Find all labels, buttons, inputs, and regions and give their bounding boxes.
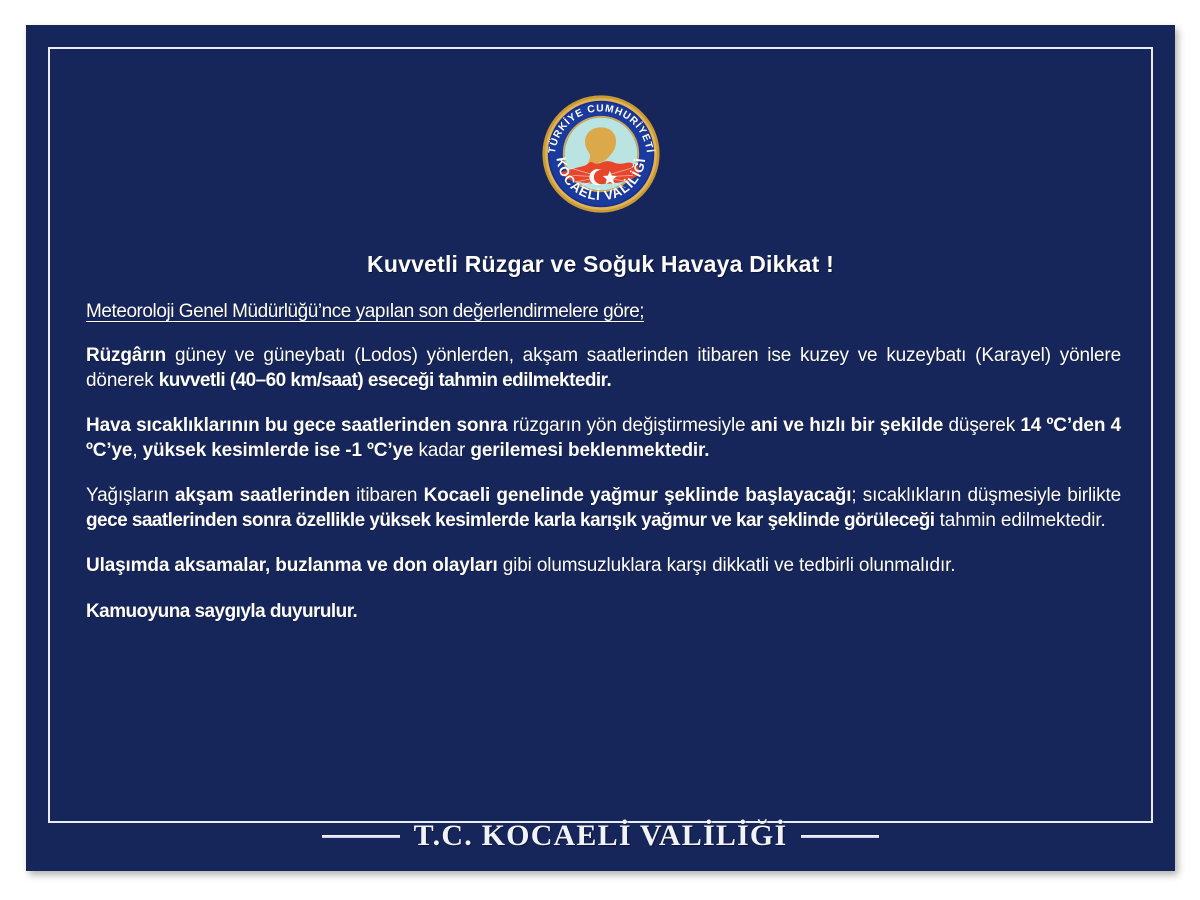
closing-bold: Kamuoyuna saygıyla duyurulur.	[86, 601, 357, 622]
precip-text-2: itibaren	[350, 485, 424, 506]
temp-text-4: kadar	[413, 440, 470, 461]
source-attribution-line: Meteoroloji Genel Müdürlüğü’nce yapılan …	[86, 301, 1121, 323]
precip-text-4: tahmin edilmektedir.	[935, 510, 1106, 531]
footer-rule-left	[322, 835, 400, 838]
poster-stage: TÜRKİYE CUMHURİYETİ KOCAELİ VALİLİĞİ Kuv…	[0, 0, 1200, 900]
precip-bold-3: gece saatlerinden sonra özellikle yüksek…	[86, 510, 935, 531]
temp-lead-bold: Hava sıcaklıklarının bu gece saatlerinde…	[86, 415, 507, 436]
announcement-body: Meteoroloji Genel Müdürlüğü’nce yapılan …	[86, 301, 1121, 624]
precip-bold-2: Kocaeli genelinde yağmur şeklinde başlay…	[424, 485, 852, 506]
paragraph-closing: Kamuoyuna saygıyla duyurulur.	[86, 599, 1121, 624]
inner-frame-border: TÜRKİYE CUMHURİYETİ KOCAELİ VALİLİĞİ Kuv…	[48, 47, 1153, 823]
temp-text-3: ,	[132, 440, 142, 461]
wind-tail-bold: kuvvetli (40–60 km/saat) eseceği tahmin …	[159, 370, 611, 391]
warning-text: gibi olumsuzluklara karşı dikkatli ve te…	[498, 555, 956, 576]
poster-footer: T.C. KOCAELİ VALİLİĞİ	[26, 813, 1175, 859]
footer-rule-right	[801, 835, 879, 838]
temp-text-2: düşerek	[943, 415, 1020, 436]
temp-highland-bold: yüksek kesimlerde ise -1 ºC’ye	[143, 440, 414, 461]
paragraph-warning: Ulaşımda aksamalar, buzlanma ve don olay…	[86, 553, 1121, 578]
warning-lead-bold: Ulaşımda aksamalar, buzlanma ve don olay…	[86, 555, 498, 576]
page-title: Kuvvetli Rüzgar ve Soğuk Havaya Dikkat !	[50, 251, 1151, 278]
paragraph-wind: Rüzgârın güney ve güneybatı (Lodos) yönl…	[86, 343, 1121, 393]
precip-bold-1: akşam saatlerinden	[175, 485, 350, 506]
footer-title: T.C. KOCAELİ VALİLİĞİ	[414, 819, 788, 853]
temp-tail-bold: gerilemesi beklenmektedir.	[470, 440, 709, 461]
temp-bold-2: ani ve hızlı bir şekilde	[751, 415, 943, 436]
poster-content: TÜRKİYE CUMHURİYETİ KOCAELİ VALİLİĞİ Kuv…	[50, 49, 1151, 821]
precip-text-1: Yağışların	[86, 485, 175, 506]
crest-container: TÜRKİYE CUMHURİYETİ KOCAELİ VALİLİĞİ	[50, 83, 1151, 225]
precip-text-3: ; sıcaklıkların düşmesiyle birlikte	[851, 485, 1121, 506]
paragraph-precipitation: Yağışların akşam saatlerinden itibaren K…	[86, 483, 1121, 533]
temp-text-1: rüzgarın yön değiştirmesiyle	[507, 415, 750, 436]
wind-lead-bold: Rüzgârın	[86, 345, 166, 366]
paragraph-temperature: Hava sıcaklıklarının bu gece saatlerinde…	[86, 413, 1121, 463]
announcement-card: TÜRKİYE CUMHURİYETİ KOCAELİ VALİLİĞİ Kuv…	[26, 25, 1175, 871]
kocaeli-governorship-seal-icon: TÜRKİYE CUMHURİYETİ KOCAELİ VALİLİĞİ	[525, 83, 677, 225]
